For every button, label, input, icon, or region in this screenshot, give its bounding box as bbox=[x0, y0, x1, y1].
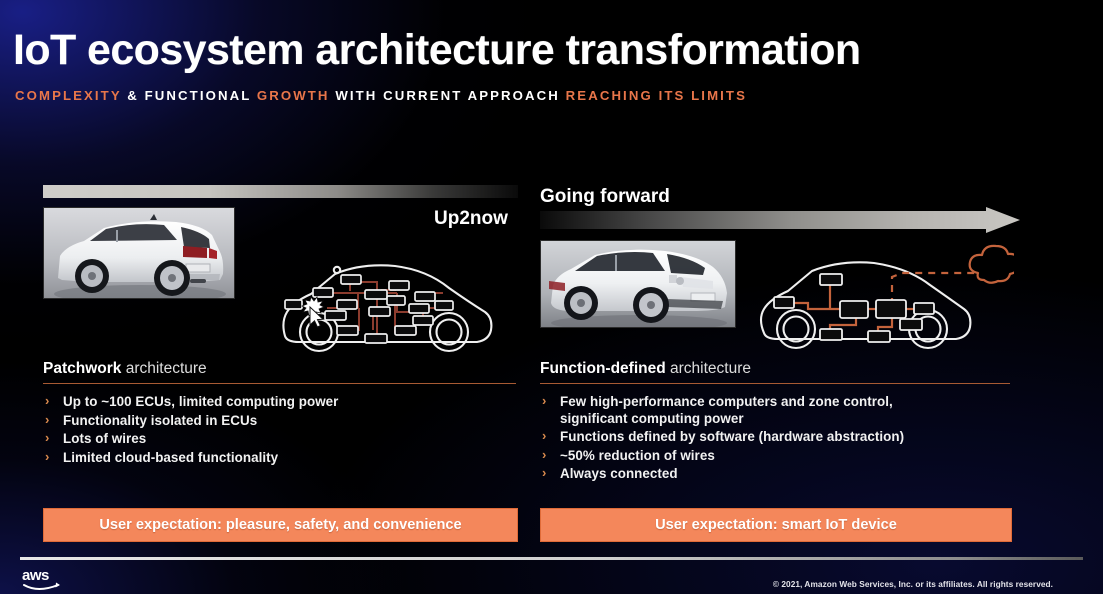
future-car-photo bbox=[540, 240, 736, 328]
legacy-bullet-text: Limited cloud-based functionality bbox=[63, 450, 515, 467]
subtitle-run-2: GROWTH bbox=[257, 88, 335, 103]
slide-canvas: IoT ecosystem architecture transformatio… bbox=[0, 0, 1103, 594]
future-expectation-banner: User expectation: smart IoT device bbox=[540, 508, 1012, 542]
future-heading-bold: Function-defined bbox=[540, 360, 666, 377]
future-bullet-text: ~50% reduction of wires bbox=[560, 448, 1012, 465]
future-heading-rule bbox=[540, 383, 1010, 384]
legacy-bullet-text: Lots of wires bbox=[63, 431, 515, 448]
legacy-architecture-heading: Patchwork architecture bbox=[43, 360, 207, 378]
chevron-right-icon: › bbox=[542, 428, 546, 443]
footer-divider bbox=[20, 557, 1083, 560]
chevron-right-icon: › bbox=[542, 465, 546, 480]
aws-logo-svg: aws bbox=[22, 566, 68, 592]
legacy-bullet-item: ›Up to ~100 ECUs, limited computing powe… bbox=[45, 394, 515, 411]
legacy-heading-rest: architecture bbox=[121, 360, 206, 377]
subtitle-run-0: COMPLEXITY bbox=[15, 88, 127, 103]
timeline-bar-legacy bbox=[43, 185, 518, 198]
future-bullet-text: Functions defined by software (hardware … bbox=[560, 429, 1012, 446]
chevron-right-icon: › bbox=[45, 430, 49, 445]
aws-logo-wordmark: aws bbox=[22, 567, 49, 584]
legacy-bullet-list: ›Up to ~100 ECUs, limited computing powe… bbox=[45, 394, 515, 468]
aws-logo: aws bbox=[22, 566, 68, 592]
chevron-right-icon: › bbox=[542, 447, 546, 462]
subtitle-run-4: REACHING ITS LIMITS bbox=[566, 88, 747, 103]
future-expectation-text: User expectation: smart IoT device bbox=[655, 517, 897, 533]
copyright-text: © 2021, Amazon Web Services, Inc. or its… bbox=[773, 579, 1053, 589]
timeline-arrow-svg bbox=[540, 207, 1020, 233]
timeline-arrow-future bbox=[540, 207, 1020, 233]
chevron-right-icon: › bbox=[45, 449, 49, 464]
subtitle-run-1: & FUNCTIONAL bbox=[127, 88, 257, 103]
future-bullet-list: ›Few high-performance computers and zone… bbox=[542, 394, 1012, 485]
future-bullet-item: ›~50% reduction of wires bbox=[542, 448, 1012, 465]
legacy-schematic-svg bbox=[277, 250, 497, 362]
legacy-car-photo-image bbox=[44, 208, 235, 299]
subtitle-run-3: WITH CURRENT APPROACH bbox=[335, 88, 565, 103]
future-schematic-svg bbox=[752, 243, 1014, 355]
era-label-future: Going forward bbox=[540, 186, 670, 208]
future-bullet-item: ›Always connected bbox=[542, 466, 1012, 483]
era-label-legacy: Up2now bbox=[434, 208, 508, 230]
page-title: IoT ecosystem architecture transformatio… bbox=[13, 26, 861, 75]
legacy-architecture-schematic bbox=[277, 250, 497, 362]
future-bullet-text: Always connected bbox=[560, 466, 1012, 483]
future-heading-rest: architecture bbox=[666, 360, 751, 377]
future-bullet-text: Few high-performance computers and zone … bbox=[560, 394, 1012, 427]
chevron-right-icon: › bbox=[542, 393, 546, 408]
future-car-photo-image bbox=[541, 241, 736, 328]
page-subtitle: COMPLEXITY & FUNCTIONAL GROWTH WITH CURR… bbox=[15, 88, 747, 103]
legacy-bullet-item: ›Functionality isolated in ECUs bbox=[45, 413, 515, 430]
legacy-expectation-banner: User expectation: pleasure, safety, and … bbox=[43, 508, 518, 542]
legacy-expectation-text: User expectation: pleasure, safety, and … bbox=[99, 517, 461, 533]
future-architecture-heading: Function-defined architecture bbox=[540, 360, 751, 378]
legacy-heading-bold: Patchwork bbox=[43, 360, 121, 377]
legacy-bullet-item: ›Lots of wires bbox=[45, 431, 515, 448]
future-architecture-schematic bbox=[752, 243, 1014, 355]
future-bullet-item: ›Functions defined by software (hardware… bbox=[542, 429, 1012, 446]
legacy-bullet-text: Up to ~100 ECUs, limited computing power bbox=[63, 394, 515, 411]
chevron-right-icon: › bbox=[45, 393, 49, 408]
legacy-heading-rule bbox=[43, 383, 516, 384]
legacy-bullet-item: ›Limited cloud-based functionality bbox=[45, 450, 515, 467]
future-bullet-item: ›Few high-performance computers and zone… bbox=[542, 394, 1012, 427]
chevron-right-icon: › bbox=[45, 412, 49, 427]
legacy-bullet-text: Functionality isolated in ECUs bbox=[63, 413, 515, 430]
legacy-car-photo bbox=[43, 207, 235, 299]
